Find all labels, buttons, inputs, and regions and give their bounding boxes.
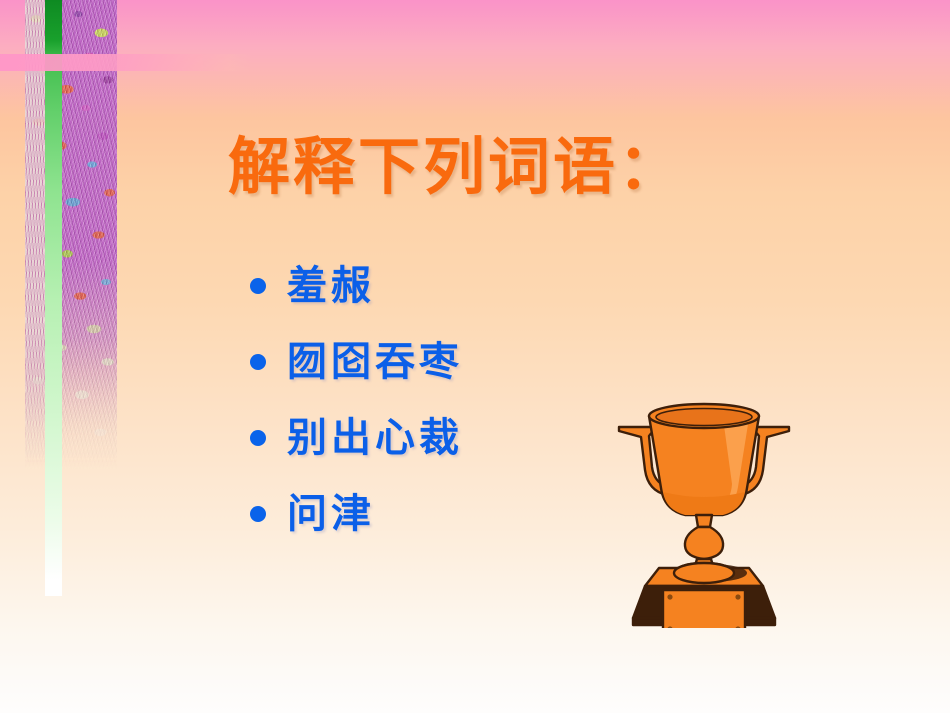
list-item-label: 问津 — [287, 490, 375, 538]
green-gradient-bar — [45, 0, 62, 596]
bullet-dot-icon — [250, 354, 266, 370]
trophy-plaque — [663, 590, 745, 628]
trophy-cup-illustration — [611, 396, 797, 628]
page-title: 解释下列词语： — [228, 128, 788, 206]
list-item-label: 囫囵吞枣 — [287, 338, 463, 386]
bullet-dot-icon — [250, 506, 266, 522]
trophy-foot-front — [674, 563, 734, 583]
trophy-rim-inner — [656, 409, 752, 426]
list-item-label: 别出心裁 — [287, 414, 463, 462]
pink-horizontal-band — [0, 54, 252, 71]
list-item-label: 羞赧 — [287, 262, 375, 310]
slide-canvas: 解释下列词语： 羞赧 囫囵吞枣 别出心裁 问津 — [0, 0, 950, 713]
list-item: 囫囵吞枣 — [250, 324, 710, 400]
bullet-dot-icon — [250, 430, 266, 446]
trophy-stem-knob — [685, 527, 723, 559]
bullet-dot-icon — [250, 278, 266, 294]
trophy-stem-top — [696, 515, 712, 527]
list-item: 羞赧 — [250, 248, 710, 324]
